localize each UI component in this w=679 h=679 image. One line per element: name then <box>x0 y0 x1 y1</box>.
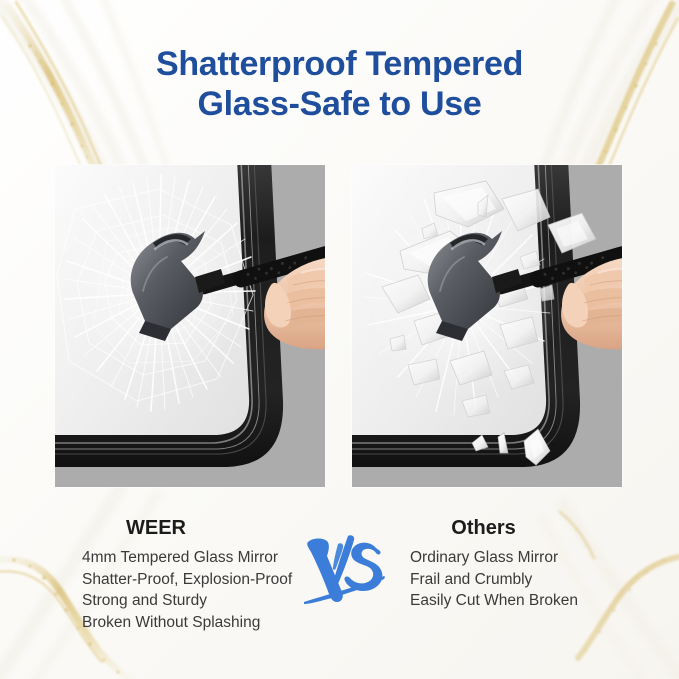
panel-tempered-glass <box>55 165 325 487</box>
brand-title-weer: WEER <box>60 515 310 541</box>
list-item: Strong and Sturdy <box>82 590 310 612</box>
list-item: Ordinary Glass Mirror <box>410 547 645 569</box>
panel-ordinary-glass <box>352 165 622 487</box>
comparison-column-weer: WEER 4mm Tempered Glass Mirror Shatter-P… <box>60 515 310 633</box>
list-item: Frail and Crumbly <box>410 569 645 591</box>
vs-icon <box>302 532 386 606</box>
brand-title-others: Others <box>400 515 645 541</box>
list-item: Broken Without Splashing <box>82 612 310 634</box>
others-feature-list: Ordinary Glass Mirror Frail and Crumbly … <box>400 547 645 612</box>
list-item: 4mm Tempered Glass Mirror <box>82 547 310 569</box>
page-title-line-2: Glass-Safe to Use <box>0 84 679 124</box>
list-item: Easily Cut When Broken <box>410 590 645 612</box>
page-title: Shatterproof Tempered Glass-Safe to Use <box>0 44 679 124</box>
comparison-photo-panels <box>0 165 679 487</box>
weer-feature-list: 4mm Tempered Glass Mirror Shatter-Proof,… <box>60 547 310 633</box>
comparison-column-others: Others Ordinary Glass Mirror Frail and C… <box>400 515 645 612</box>
list-item: Shatter-Proof, Explosion-Proof <box>82 569 310 591</box>
page-title-line-1: Shatterproof Tempered <box>0 44 679 84</box>
